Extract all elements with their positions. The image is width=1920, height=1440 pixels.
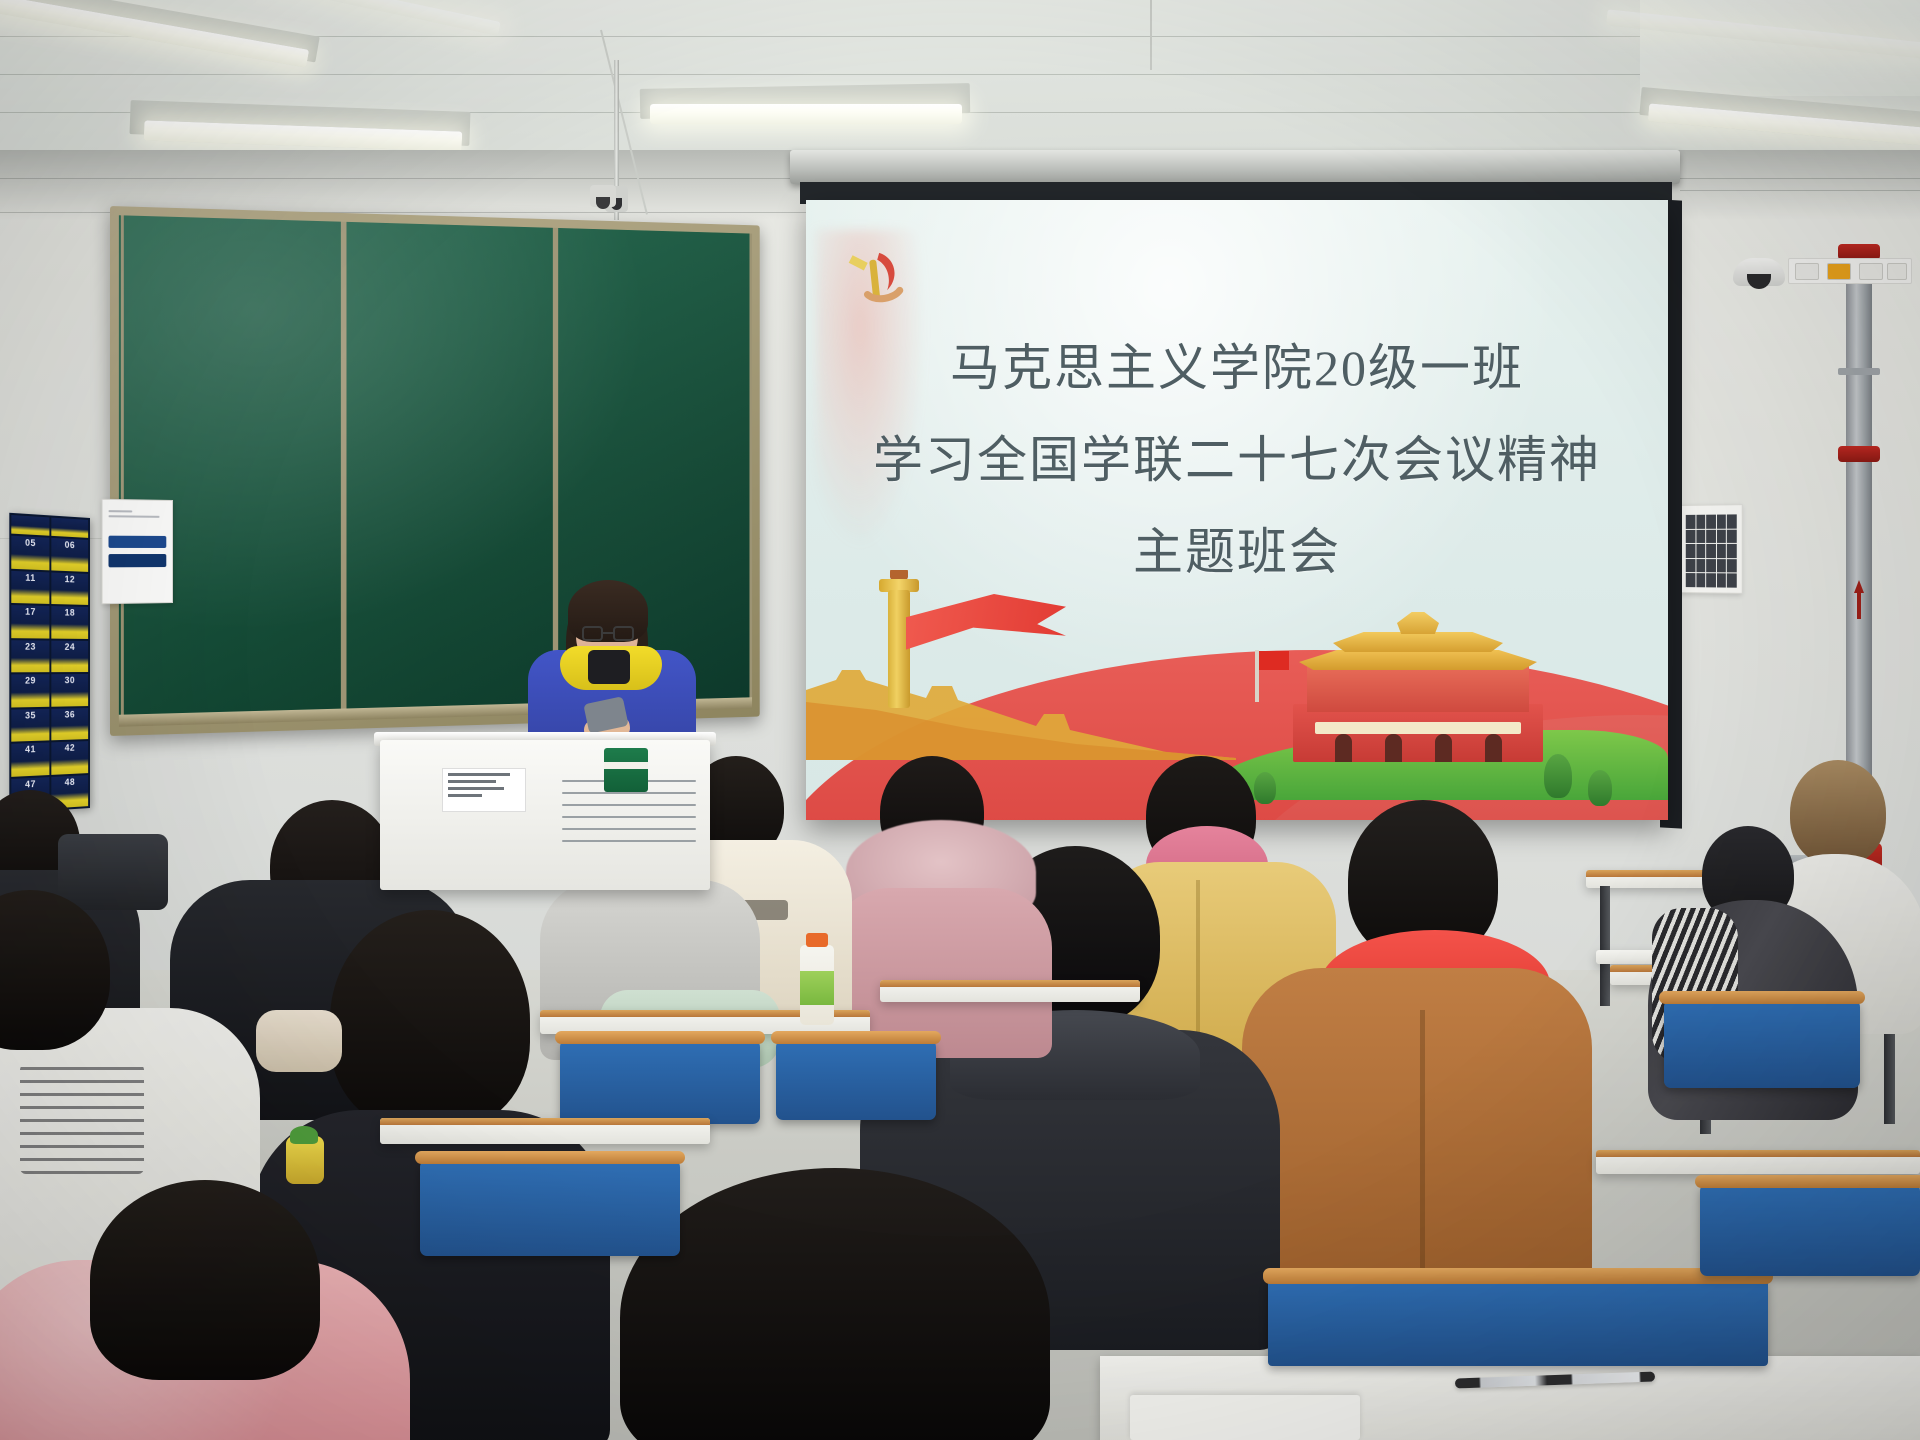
ribbon-accessory xyxy=(256,1010,342,1072)
seat-number: 17 xyxy=(25,605,36,619)
tree-icon xyxy=(1588,770,1612,806)
projection-screen-housing xyxy=(790,150,1680,184)
slide-title-line-1: 马克思主义学院20级一班 xyxy=(806,328,1668,400)
ceiling-light-3 xyxy=(650,104,962,124)
notebook xyxy=(1130,1395,1360,1440)
seat-number: 18 xyxy=(65,606,75,620)
seat-number-chart: 05 06 11 12 17 18 23 24 29 30 35 36 41 4… xyxy=(9,513,90,814)
tree-icon xyxy=(1544,754,1572,798)
puffer-seam xyxy=(1420,1010,1425,1280)
podium-label xyxy=(442,768,526,812)
desk-leg xyxy=(1600,886,1610,1006)
backpack xyxy=(58,834,168,910)
chair-back xyxy=(1664,1000,1860,1088)
seat-number: 05 xyxy=(25,536,36,550)
desk-right-mid xyxy=(1596,1150,1920,1174)
seat-number: 23 xyxy=(25,640,36,654)
chair-back xyxy=(776,1040,936,1120)
green-tea-cup xyxy=(604,748,648,792)
seat-number: 35 xyxy=(25,709,36,723)
presenter-inner-shirt xyxy=(588,650,630,684)
wall-notice-sheet xyxy=(101,499,173,605)
party-emblem-icon xyxy=(842,238,916,312)
wall-poster-grid xyxy=(1680,504,1743,594)
seat-number: 11 xyxy=(25,571,35,585)
student-head xyxy=(1790,760,1886,866)
seat-number: 41 xyxy=(25,743,36,757)
red-flag-icon xyxy=(1259,651,1289,670)
power-outlet-strip[interactable] xyxy=(1788,258,1912,284)
chair-back xyxy=(560,1040,760,1124)
seat-number: 24 xyxy=(65,640,75,654)
chair-right-mid xyxy=(1700,1184,1920,1276)
classroom-photo-scene: 05 06 11 12 17 18 23 24 29 30 35 36 41 4… xyxy=(0,0,1920,1440)
tree-icon xyxy=(1254,772,1276,804)
seat-number: 42 xyxy=(65,742,75,756)
chair-front-right xyxy=(1268,1280,1768,1366)
seat-number: 29 xyxy=(25,674,36,688)
great-wall-icon xyxy=(806,640,1236,760)
seat-number: 30 xyxy=(65,674,75,688)
hair-clip-leaf xyxy=(290,1126,318,1144)
lecture-podium xyxy=(380,740,710,890)
chair-front-left xyxy=(420,1160,680,1256)
eyeglasses-icon xyxy=(582,626,634,641)
seat-number: 12 xyxy=(65,572,75,586)
student-body xyxy=(1242,968,1592,1298)
ceiling-wire xyxy=(1150,0,1152,70)
seat-number: 36 xyxy=(65,708,75,722)
tiananmen-gate-icon xyxy=(1293,602,1543,762)
student-head xyxy=(90,1180,320,1380)
water-bottle xyxy=(800,945,834,1025)
projection-screen: 马克思主义学院20级一班 学习全国学联二十七次会议精神 主题班会 xyxy=(806,200,1668,820)
student-head xyxy=(330,910,530,1130)
slide-title-line-2: 学习全国学联二十七次会议精神 xyxy=(806,420,1668,492)
small-camera-icon xyxy=(590,185,616,207)
coat-print-text xyxy=(20,1064,144,1174)
seat-number: 48 xyxy=(65,775,75,789)
desk-row-2b xyxy=(880,980,1140,1002)
desk-front-left xyxy=(380,1118,710,1144)
bottle-cap xyxy=(806,933,828,947)
seat-number: 06 xyxy=(65,539,75,553)
